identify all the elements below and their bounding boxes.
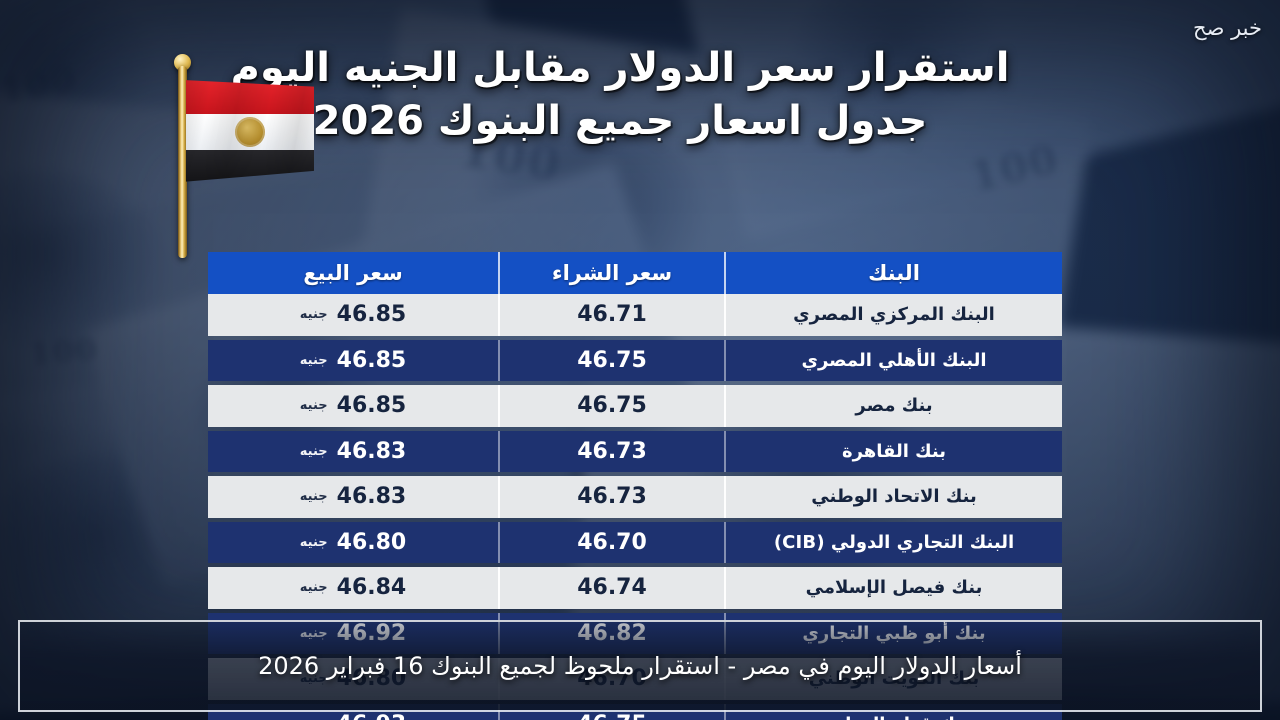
bank-name-label: البنك المركزي المصري	[793, 304, 995, 325]
table-row: بنك فيصل الإسلامي46.7446.84جنيه	[208, 567, 1062, 609]
cell-buy-price: 46.74	[498, 567, 726, 609]
bank-name-label: بنك مصر	[855, 395, 932, 416]
bank-name-label: البنك الأهلي المصري	[801, 350, 986, 371]
sell-price-value: 46.93	[337, 712, 407, 720]
cell-bank-name: البنك الأهلي المصري	[726, 340, 1062, 382]
flag-wave-shading	[186, 78, 314, 186]
cell-bank-name: البنك المركزي المصري	[726, 294, 1062, 336]
buy-price-value: 46.73	[577, 484, 647, 509]
cell-sell-price: 46.83جنيه	[208, 476, 498, 518]
cell-bank-name: بنك الاتحاد الوطني	[726, 476, 1062, 518]
table-row: بنك مصر46.7546.85جنيه	[208, 385, 1062, 427]
sell-price-value: 46.80	[337, 530, 407, 555]
sell-price-value: 46.83	[337, 439, 407, 464]
buy-price-value: 46.73	[577, 439, 647, 464]
column-header-buy: سعر الشراء	[498, 252, 726, 294]
cell-buy-price: 46.70	[498, 522, 726, 564]
currency-unit-label: جنيه	[300, 535, 328, 550]
cell-buy-price: 46.75	[498, 340, 726, 382]
cell-bank-name: بنك مصر	[726, 385, 1062, 427]
bank-name-label: بنك الاتحاد الوطني	[811, 486, 976, 507]
cell-bank-name: البنك التجاري الدولي (CIB)	[726, 522, 1062, 564]
currency-unit-label: جنيه	[300, 489, 328, 504]
table-row: البنك التجاري الدولي (CIB)46.7046.80جنيه	[208, 522, 1062, 564]
cell-sell-price: 46.80جنيه	[208, 522, 498, 564]
table-row: البنك المركزي المصري46.7146.85جنيه	[208, 294, 1062, 336]
table-row: البنك الأهلي المصري46.7546.85جنيه	[208, 340, 1062, 382]
currency-unit-label: جنيه	[300, 398, 328, 413]
cell-bank-name: بنك القاهرة	[726, 431, 1062, 473]
buy-price-value: 46.75	[577, 348, 647, 373]
cell-buy-price: 46.75	[498, 385, 726, 427]
cell-bank-name: بنك فيصل الإسلامي	[726, 567, 1062, 609]
flag-pole	[178, 66, 187, 258]
column-header-sell: سعر البيع	[208, 252, 498, 294]
caption-bar: أسعار الدولار اليوم في مصر - استقرار ملح…	[18, 620, 1262, 712]
buy-price-value: 46.75	[577, 712, 647, 720]
sell-price-value: 46.85	[337, 348, 407, 373]
bank-name-label: بنك فيصل الإسلامي	[806, 577, 983, 598]
caption-text: أسعار الدولار اليوم في مصر - استقرار ملح…	[258, 652, 1022, 680]
watermark-logo: خبر صح	[1193, 16, 1262, 40]
cell-buy-price: 46.71	[498, 294, 726, 336]
currency-unit-label: جنيه	[300, 444, 328, 459]
table-row: بنك الاتحاد الوطني46.7346.83جنيه	[208, 476, 1062, 518]
sell-price-value: 46.83	[337, 484, 407, 509]
cell-buy-price: 46.73	[498, 431, 726, 473]
sell-price-value: 46.84	[337, 575, 407, 600]
cell-sell-price: 46.85جنيه	[208, 385, 498, 427]
flag-cloth	[186, 78, 314, 186]
sell-price-value: 46.85	[337, 302, 407, 327]
bank-name-label: بنك قطر الوطني	[819, 714, 970, 720]
sell-price-value: 46.85	[337, 393, 407, 418]
egypt-flag	[166, 58, 316, 258]
cell-sell-price: 46.85جنيه	[208, 294, 498, 336]
cell-sell-price: 46.83جنيه	[208, 431, 498, 473]
column-header-bank: البنك	[726, 252, 1062, 294]
table-header-row: البنك سعر الشراء سعر البيع	[208, 252, 1062, 294]
currency-unit-label: جنيه	[300, 580, 328, 595]
currency-unit-label: جنيه	[300, 307, 328, 322]
cell-sell-price: 46.84جنيه	[208, 567, 498, 609]
currency-unit-label: جنيه	[300, 353, 328, 368]
buy-price-value: 46.70	[577, 530, 647, 555]
bank-name-label: البنك التجاري الدولي (CIB)	[774, 532, 1014, 553]
bank-name-label: بنك القاهرة	[842, 441, 946, 462]
cell-sell-price: 46.85جنيه	[208, 340, 498, 382]
cell-buy-price: 46.73	[498, 476, 726, 518]
table-row: بنك القاهرة46.7346.83جنيه	[208, 431, 1062, 473]
buy-price-value: 46.71	[577, 302, 647, 327]
buy-price-value: 46.74	[577, 575, 647, 600]
buy-price-value: 46.75	[577, 393, 647, 418]
